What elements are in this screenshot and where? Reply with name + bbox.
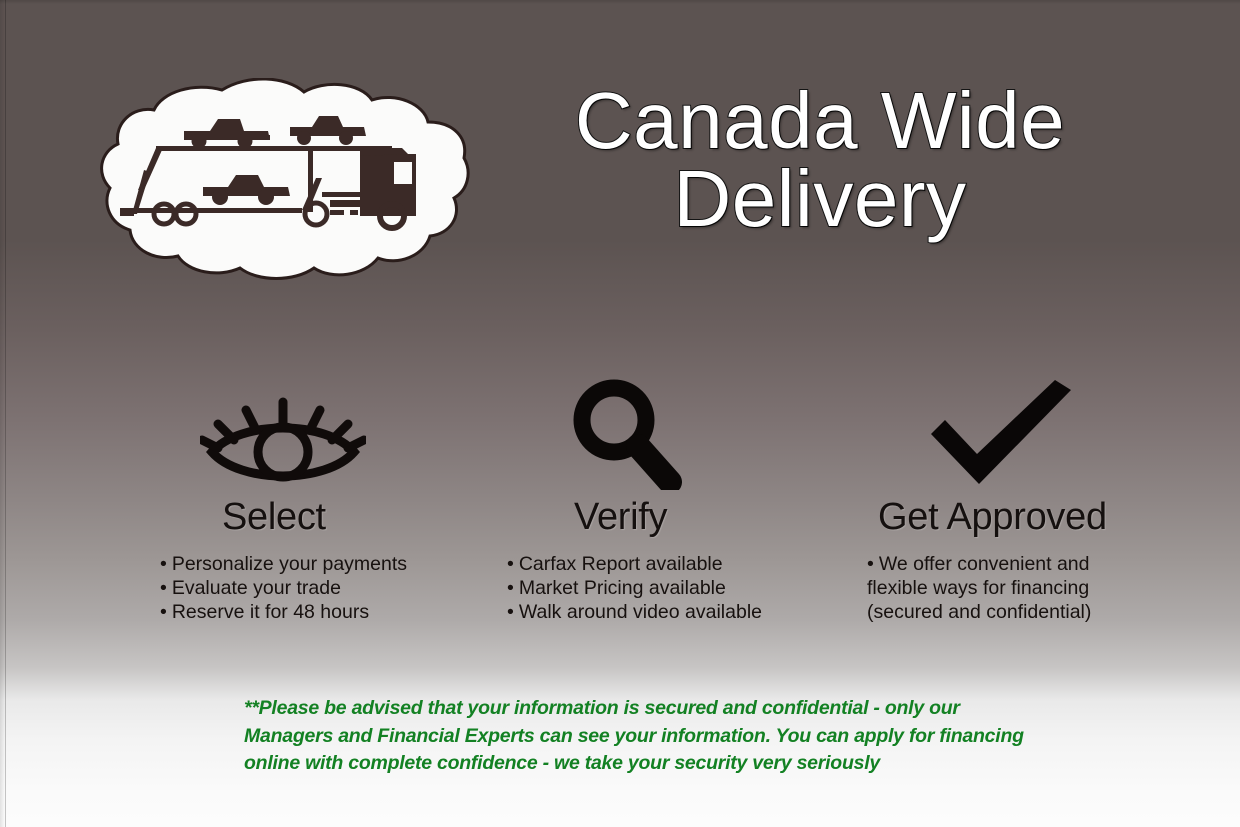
list-item: •Market Pricing available: [507, 577, 800, 601]
page-title: Canada Wide Delivery: [470, 82, 1170, 239]
list-item: •Reserve it for 48 hours: [160, 601, 450, 625]
step-get-approved: Get Approved •We offer convenient and fl…: [862, 378, 1162, 624]
list-item-label: Carfax Report available: [519, 553, 723, 575]
step-bullet-list: •We offer convenient and flexible ways f…: [867, 553, 1117, 624]
step-heading: Select: [150, 496, 450, 539]
bullet-glyph: •: [507, 553, 514, 575]
list-item-label: Evaluate your trade: [172, 577, 341, 599]
bullet-glyph: •: [160, 577, 167, 599]
step-heading: Get Approved: [862, 496, 1162, 539]
canada-wide-delivery-banner: Canada Wide Delivery: [0, 0, 1240, 827]
list-item: •Walk around video available: [507, 601, 800, 625]
steps-row: Select •Personalize your payments •Evalu…: [0, 378, 1240, 648]
bullet-glyph: •: [867, 553, 874, 575]
list-item-label: We offer convenient and flexible ways fo…: [867, 553, 1091, 623]
bullet-glyph: •: [160, 553, 167, 575]
bullet-glyph: •: [507, 577, 514, 599]
step-bullet-list: •Personalize your payments •Evaluate you…: [160, 553, 450, 624]
list-item-label: Personalize your payments: [172, 553, 407, 575]
step-bullet-list: •Carfax Report available •Market Pricing…: [507, 553, 800, 624]
list-item-label: Reserve it for 48 hours: [172, 601, 369, 623]
car-carrier-truck-in-cloud-logo: [72, 78, 472, 283]
step-select: Select •Personalize your payments •Evalu…: [150, 378, 450, 624]
checkmark-icon: [862, 378, 1162, 490]
list-item: •Carfax Report available: [507, 553, 800, 577]
eye-icon: [150, 378, 450, 490]
list-item: •Evaluate your trade: [160, 577, 450, 601]
security-disclaimer: **Please be advised that your informatio…: [244, 695, 1034, 778]
step-heading: Verify: [500, 496, 800, 539]
list-item-label: Market Pricing available: [519, 577, 726, 599]
list-item-label: Walk around video available: [519, 601, 762, 623]
bullet-glyph: •: [507, 601, 514, 623]
list-item: •Personalize your payments: [160, 553, 450, 577]
top-edge-shading: [0, 0, 1240, 4]
list-item: •We offer convenient and flexible ways f…: [867, 553, 1117, 624]
step-verify: Verify •Carfax Report available •Market …: [500, 378, 800, 624]
magnifying-glass-icon: [500, 378, 800, 490]
bullet-glyph: •: [160, 601, 167, 623]
